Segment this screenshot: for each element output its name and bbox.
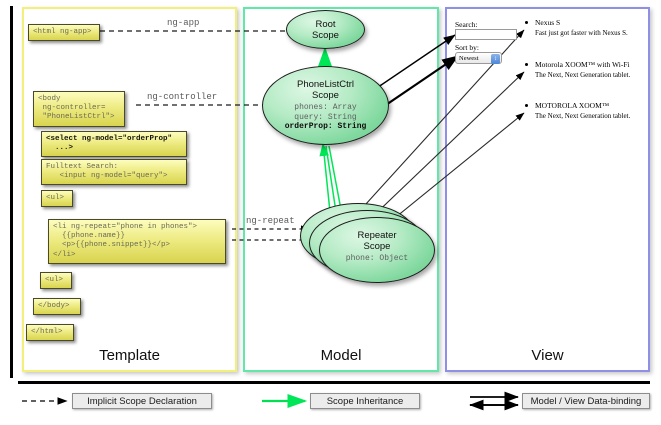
diagram-canvas: Template Model View	[0, 0, 661, 425]
scope-phonelistctrl-title-2: Scope	[263, 90, 388, 101]
bullet-icon	[525, 63, 528, 66]
scope-repeater-title-2: Scope	[320, 241, 434, 252]
code-box-ul-close: <ul>	[40, 272, 72, 289]
legend-model-view-data-binding: Model / View Data-binding	[522, 393, 650, 409]
code-box-input-tag: Fulltext Search: <input ng-model="query"…	[41, 159, 187, 185]
sort-by-select-value: Newest	[459, 55, 479, 62]
left-vertical-rule	[10, 6, 13, 378]
scope-repeater-props: phone: Object	[320, 254, 434, 264]
code-box-li-repeat: <li ng-repeat="phone in phones"> {{phone…	[48, 219, 226, 264]
phone-snippet: The Next, Next Generation tablet.	[535, 71, 630, 79]
connector-label-ng-app: ng-app	[167, 18, 199, 28]
panel-model: Model	[243, 7, 439, 372]
code-box-select-tag: <select ng-model="orderProp" ...>	[41, 131, 187, 157]
panel-view-title: View	[447, 347, 648, 364]
scope-repeater-title-1: Repeater	[320, 230, 434, 241]
bullet-icon	[525, 104, 528, 107]
scope-phonelistctrl-props: phones: Array query: String orderProp: S…	[263, 103, 388, 132]
chevron-down-icon: ↕	[491, 54, 500, 64]
scope-repeater: Repeater Scope phone: Object	[319, 217, 435, 283]
panel-template-title: Template	[24, 347, 235, 364]
legend-scope-inheritance: Scope Inheritance	[310, 393, 420, 409]
phone-snippet: Fast just got faster with Nexus S.	[535, 29, 628, 37]
phone-name: MOTOROLA XOOM™	[535, 101, 609, 110]
code-box-ul-open: <ul>	[41, 190, 73, 207]
scope-root-title-2: Scope	[287, 30, 364, 41]
scope-root-title-1: Root	[287, 19, 364, 30]
phone-name: Nexus S	[535, 18, 560, 27]
phone-name: Motorola XOOM™ with Wi-Fi	[535, 60, 630, 69]
view-search-label: Search:	[455, 20, 478, 29]
connector-label-ng-controller: ng-controller	[147, 92, 217, 102]
code-box-html-close: </html>	[26, 324, 74, 341]
scope-root: Root Scope	[286, 10, 365, 49]
sort-by-select[interactable]: Newest ↕	[455, 52, 502, 64]
scope-prop-phones: phones: Array	[263, 103, 388, 113]
view-sort-label: Sort by:	[455, 43, 479, 52]
legend-divider	[18, 381, 650, 384]
code-box-body-tag: <body ng-controller= "PhoneListCtrl">	[33, 91, 125, 127]
search-input[interactable]	[455, 29, 517, 40]
scope-phonelistctrl: PhoneListCtrl Scope phones: Array query:…	[262, 66, 389, 145]
bullet-icon	[525, 21, 528, 24]
scope-prop-query: query: String	[263, 113, 388, 123]
phone-snippet: The Next, Next Generation tablet.	[535, 112, 630, 120]
scope-prop-phone: phone: Object	[320, 254, 434, 264]
connector-label-ng-repeat: ng-repeat	[246, 216, 295, 226]
code-box-body-close: </body>	[33, 298, 81, 315]
scope-phonelistctrl-title-1: PhoneListCtrl	[263, 79, 388, 90]
code-box-html-tag: <html ng-app>	[28, 24, 100, 41]
legend-implicit-scope-declaration: Implicit Scope Declaration	[72, 393, 212, 409]
panel-model-title: Model	[245, 347, 437, 364]
scope-prop-orderprop: orderProp: String	[263, 122, 388, 132]
